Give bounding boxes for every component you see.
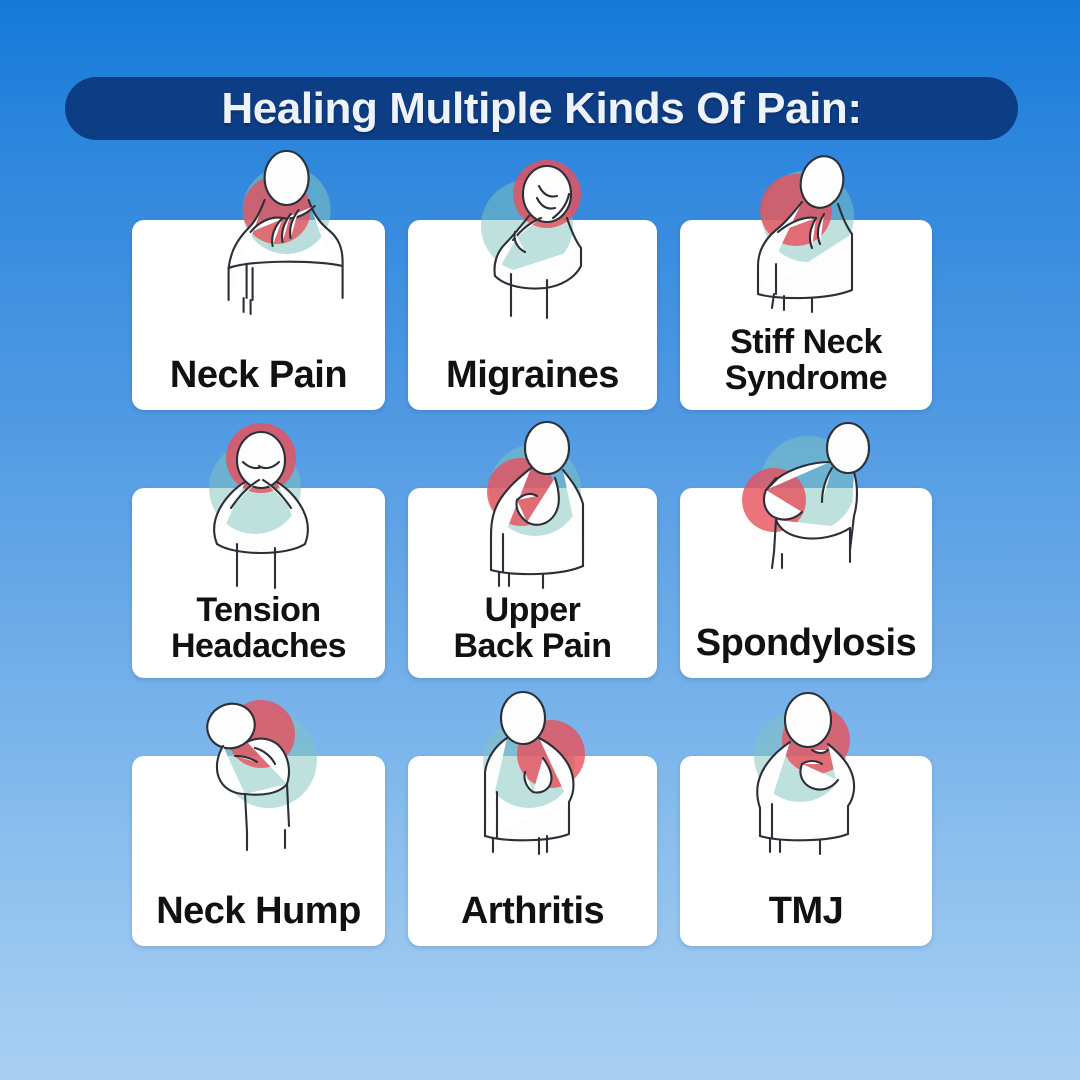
page-title: Healing Multiple Kinds Of Pain: [221,84,861,134]
card-label-line-2: Back Pain [453,627,611,665]
person-holding-head-icon [443,148,623,348]
pain-card-arthritis[interactable]: Arthritis [408,756,657,946]
pain-card-spondylosis[interactable]: Spondylosis [680,488,932,678]
person-holding-back-of-neck-icon [190,148,370,348]
person-holding-shoulder-icon [443,684,623,884]
person-holding-jaw-icon [716,684,896,884]
person-tilting-stiff-neck-icon [716,148,896,348]
pain-card-neck-hump[interactable]: Neck Hump [132,756,385,946]
card-label: Neck Pain [164,356,353,396]
card-label: Spondylosis [690,624,922,664]
person-rubbing-temples-icon [169,416,349,616]
card-label-line-1: Upper [485,591,581,629]
person-with-forward-head-hump-icon [169,684,349,884]
card-label: Tension Headaches [165,593,352,664]
pain-card-migraines[interactable]: Migraines [408,220,657,410]
person-reaching-upper-back-icon [443,416,623,616]
card-label-line-1: Tension [196,591,320,629]
pain-card-tension-headaches[interactable]: Tension Headaches [132,488,385,678]
card-label: Stiff Neck Syndrome [719,325,893,396]
pain-card-tmj[interactable]: TMJ [680,756,932,946]
card-label: TMJ [763,892,850,932]
pain-card-upper-back-pain[interactable]: Upper Back Pain [408,488,657,678]
pain-card-stiff-neck-syndrome[interactable]: Stiff Neck Syndrome [680,220,932,410]
card-label-line-1: Stiff Neck [730,323,882,361]
title-banner: Healing Multiple Kinds Of Pain: [65,77,1018,140]
pain-type-grid: Neck Pain [132,220,932,950]
pain-card-neck-pain[interactable]: Neck Pain [132,220,385,410]
person-bent-holding-lower-back-icon [716,416,896,616]
card-label-line-2: Syndrome [725,359,887,397]
card-label: Migraines [440,356,625,396]
card-label: Upper Back Pain [447,593,617,664]
card-label: Arthritis [455,892,610,932]
card-label-line-2: Headaches [171,627,346,665]
card-label: Neck Hump [150,892,367,932]
